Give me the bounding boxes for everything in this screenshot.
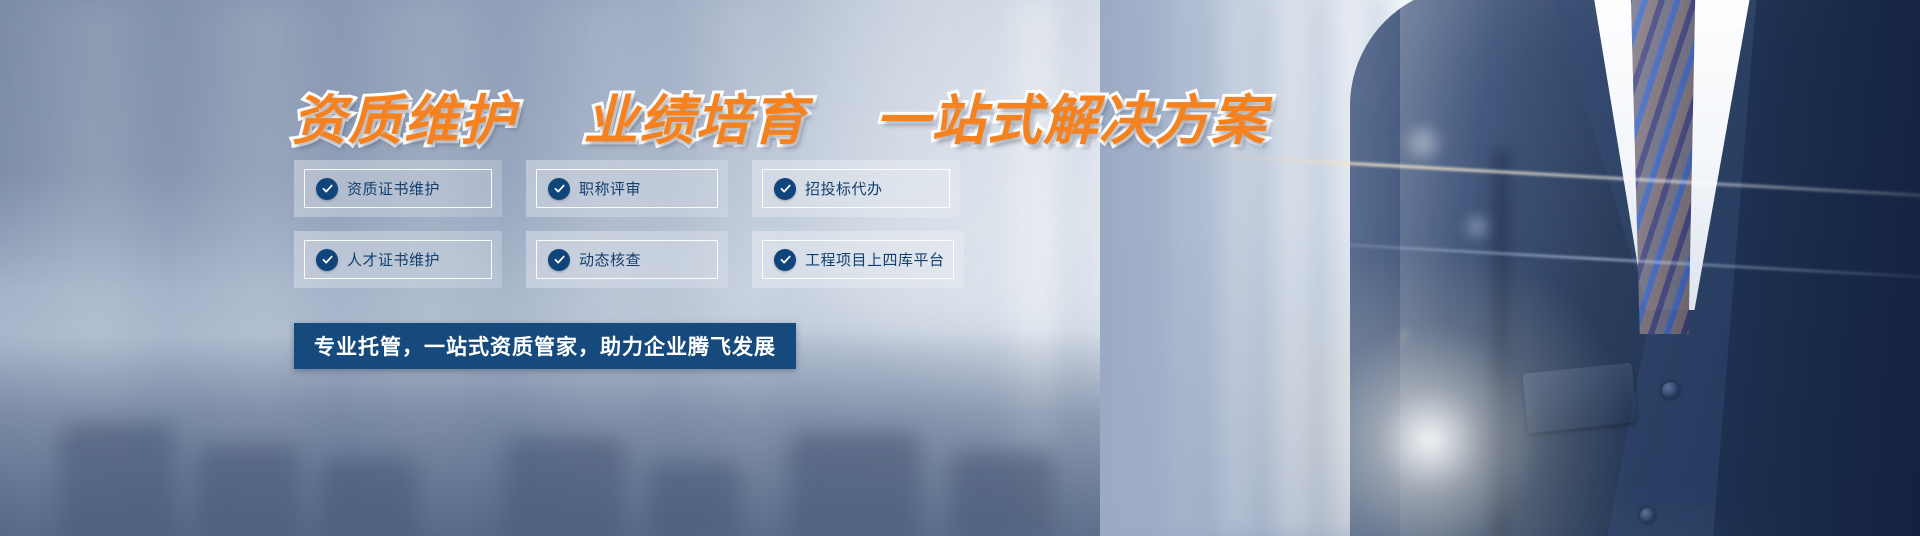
feature-card-inner: 动态核查 — [536, 240, 718, 279]
tagline-bar: 专业托管，一站式资质管家，助力企业腾飞发展 — [294, 323, 796, 369]
feature-card-label: 人才证书维护 — [347, 249, 440, 270]
check-circle-icon — [774, 178, 796, 200]
feature-card-label: 资质证书维护 — [347, 178, 440, 199]
feature-card-row-2: 人才证书维护 动态核查 — [294, 231, 988, 288]
feature-card-talent-certificate[interactable]: 人才证书维护 — [294, 231, 502, 288]
feature-card-label: 职称评审 — [579, 178, 641, 199]
feature-card-label: 工程项目上四库平台 — [805, 249, 945, 270]
check-circle-icon — [548, 249, 570, 271]
feature-card-grid: 资质证书维护 职称评审 — [294, 160, 988, 302]
headline-segment-2: 业绩培育 — [584, 89, 808, 152]
headline-segment-1: 资质维护 — [292, 89, 516, 152]
check-circle-icon — [774, 249, 796, 271]
feature-card-inner: 职称评审 — [536, 169, 718, 208]
feature-card-label: 招投标代办 — [805, 178, 883, 199]
promo-banner: 资质维护 业绩培育 一站式解决方案 资质证书维护 — [0, 0, 1920, 536]
feature-card-row-1: 资质证书维护 职称评审 — [294, 160, 988, 217]
check-circle-icon — [316, 178, 338, 200]
feature-card-four-database-platform[interactable]: 工程项目上四库平台 — [752, 231, 964, 288]
tagline-text: 专业托管，一站式资质管家，助力企业腾飞发展 — [314, 331, 776, 361]
feature-card-dynamic-inspection[interactable]: 动态核查 — [526, 231, 728, 288]
feature-card-inner: 人才证书维护 — [304, 240, 492, 279]
feature-card-label: 动态核查 — [579, 249, 641, 270]
feature-card-bidding-agency[interactable]: 招投标代办 — [752, 160, 960, 217]
feature-card-title-review[interactable]: 职称评审 — [526, 160, 728, 217]
headline-segment-3: 一站式解决方案 — [875, 89, 1267, 152]
feature-card-inner: 工程项目上四库平台 — [762, 240, 954, 279]
banner-content: 资质维护 业绩培育 一站式解决方案 资质证书维护 — [0, 0, 1920, 536]
feature-card-inner: 资质证书维护 — [304, 169, 492, 208]
headline: 资质维护 业绩培育 一站式解决方案 — [292, 76, 1267, 155]
check-circle-icon — [316, 249, 338, 271]
check-circle-icon — [548, 178, 570, 200]
feature-card-qualification-certificate[interactable]: 资质证书维护 — [294, 160, 502, 217]
feature-card-inner: 招投标代办 — [762, 169, 950, 208]
